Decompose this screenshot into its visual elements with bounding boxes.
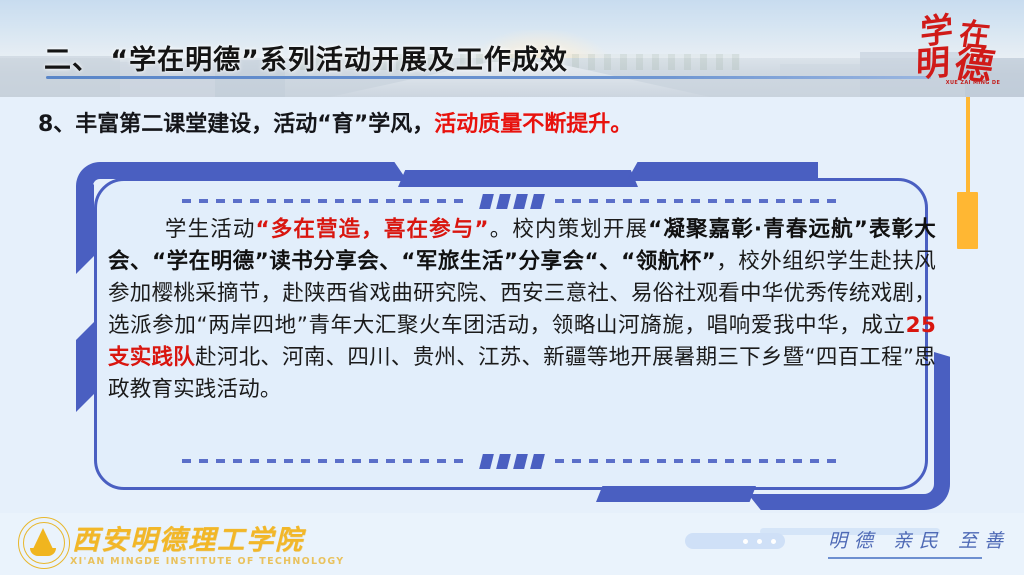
subtitle-plain-text: 8、丰富第二课堂建设，活动“育”学风， <box>38 112 434 137</box>
body-segment-3: 。校内策划开展 <box>489 217 648 242</box>
dash-run-left <box>182 459 469 463</box>
slash-mark <box>479 454 494 469</box>
frame-top-bar-segment-3 <box>628 162 818 179</box>
body-paragraph: 学生活动“多在营造，喜在参与”。校内策划开展“凝聚嘉彰·青春远航”表彰大会、“学… <box>108 214 936 406</box>
pill-dot <box>771 539 776 544</box>
frame-top-dashed-divider <box>182 196 842 206</box>
slash-mark <box>513 454 528 469</box>
dash-run-left <box>182 199 469 203</box>
slash-mark <box>479 194 494 209</box>
title-underline-rule <box>46 76 931 79</box>
page-title: 二、 “学在明德”系列活动开展及工作成效 <box>44 38 568 77</box>
university-emblem-icon <box>18 517 70 569</box>
seal-subtitle: XUE ZAI MING DE <box>938 80 1008 86</box>
frame-bottom-bar-segment-1 <box>748 494 908 510</box>
slash-marks-bottom <box>481 454 543 469</box>
frame-bottom-dashed-divider <box>182 456 842 466</box>
dash-run-right <box>555 199 842 203</box>
frame-right-stepped-bar <box>934 352 950 472</box>
section-subtitle: 8、丰富第二课堂建设，活动“育”学风，活动质量不断提升。 <box>38 106 632 138</box>
orange-accent-block <box>957 192 978 249</box>
pill-dot <box>757 539 762 544</box>
footer-pill-indicator <box>685 533 785 549</box>
motto-underline <box>828 557 982 559</box>
emblem-triangle-shape <box>33 528 53 549</box>
frame-left-stepped-bar <box>76 184 94 484</box>
body-segment-1: 学生活动 <box>164 217 255 242</box>
body-segment-7: 赴河北、河南、四川、贵州、江苏、新疆等地开展暑期三下乡暨“四百工程”思政教育实践… <box>108 345 936 402</box>
slide-root: 二、 “学在明德”系列活动开展及工作成效 学 在 明 德 XUE ZAI MIN… <box>0 0 1024 575</box>
seal-glyph-group: 学 在 明 德 <box>916 6 1016 76</box>
slash-marks-top <box>481 194 543 209</box>
emblem-base-shape <box>30 548 56 556</box>
seal-char-ming: 明 <box>916 35 951 87</box>
slash-mark <box>530 454 545 469</box>
orange-accent-line <box>966 97 970 195</box>
university-name-cn: 西安明德理工学院 <box>72 518 304 557</box>
slash-mark <box>513 194 528 209</box>
frame-bottom-bar-segment-2 <box>596 486 756 502</box>
frame-top-bar-segment-2 <box>398 170 638 187</box>
pill-dot <box>743 539 748 544</box>
slash-mark <box>496 454 511 469</box>
dash-run-right <box>555 459 842 463</box>
slide-footer: 西安明德理工学院 XI'AN MINGDE INSTITUTE OF TECHN… <box>0 513 1024 575</box>
xuezaimingde-seal-logo: 学 在 明 德 XUE ZAI MING DE <box>916 6 1016 94</box>
subtitle-highlight-text: 活动质量不断提升。 <box>434 112 632 137</box>
frame-top-bar-segment-1 <box>116 162 406 179</box>
university-name-en: XI'AN MINGDE INSTITUTE OF TECHNOLOGY <box>70 556 344 567</box>
university-motto: 明德 亲民 至善 <box>828 526 1010 553</box>
title-area: 二、 “学在明德”系列活动开展及工作成效 <box>0 18 1024 73</box>
slash-mark <box>530 194 545 209</box>
body-segment-quote-red: “多在营造，喜在参与” <box>255 217 488 242</box>
slash-mark <box>496 194 511 209</box>
